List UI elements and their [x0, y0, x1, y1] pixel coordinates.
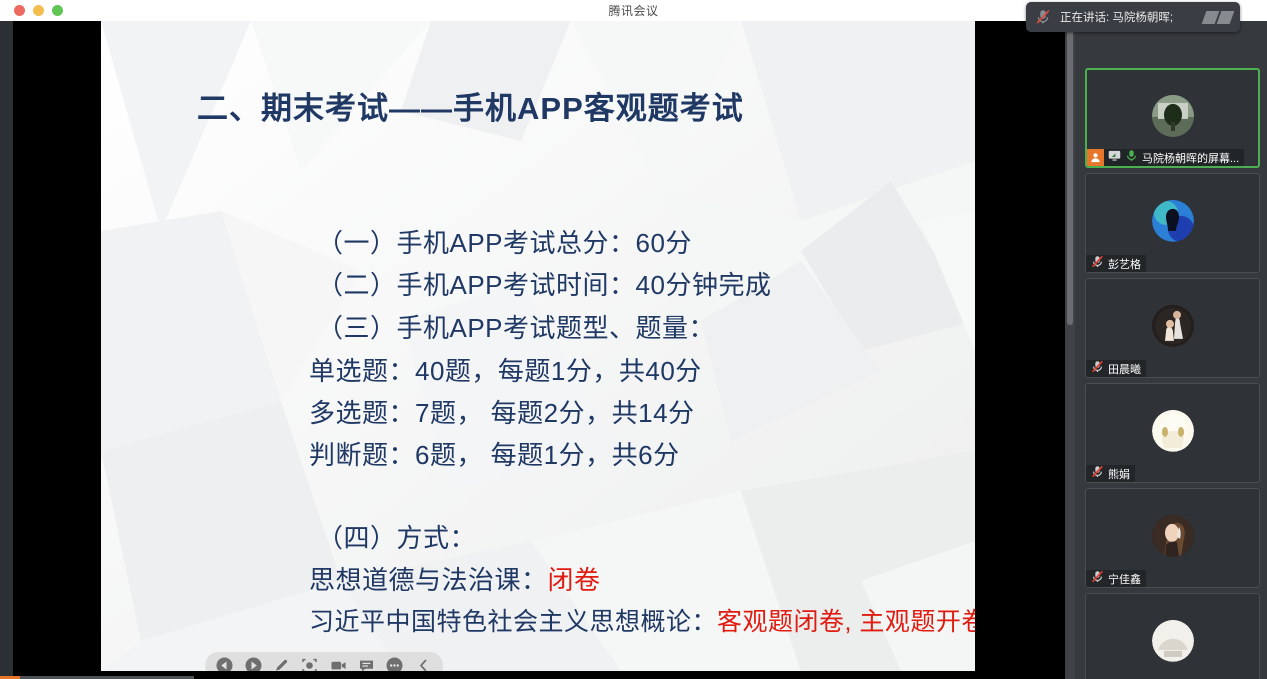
mic-muted-icon — [1091, 465, 1104, 483]
woman-portrait-avatar — [1152, 515, 1194, 557]
participant-tile[interactable]: 田晨曦 — [1085, 278, 1260, 378]
slide-line: （四）方式： — [317, 518, 476, 555]
mic-muted-icon — [1091, 360, 1104, 378]
participant-label: 田晨曦 — [1086, 360, 1146, 377]
shared-screen-stage: 二、期末考试——手机APP客观题考试 （一）手机APP考试总分：60分（二）手机… — [0, 21, 1075, 679]
participant-name: 田晨曦 — [1108, 361, 1141, 377]
slide-line-highlight: 客观题闭卷, 主观题开卷 — [717, 608, 975, 636]
vertical-scrollbar[interactable] — [1065, 21, 1075, 679]
scrollbar-thumb[interactable] — [1067, 25, 1073, 325]
previous-slide-button[interactable] — [213, 654, 236, 671]
presentation-slide: 二、期末考试——手机APP客观题考试 （一）手机APP考试总分：60分（二）手机… — [101, 21, 975, 671]
slide-line: 单选题：40题，每题1分，共40分 — [309, 351, 702, 388]
participant-name: 宁佳鑫 — [1108, 571, 1141, 587]
slide-line: （一）手机APP考试总分：60分 — [317, 223, 692, 260]
participants-list[interactable]: 马院杨朝晖的屏幕...彭艺格田晨曦熊娟宁佳鑫 — [1075, 21, 1267, 679]
participant-label: 熊娟 — [1086, 465, 1135, 482]
participant-label: 宁佳鑫 — [1086, 570, 1146, 587]
participant-label: 马院杨朝晖的屏幕... — [1087, 149, 1244, 166]
participant-tile[interactable]: 熊娟 — [1085, 383, 1260, 483]
couple-photo-avatar — [1152, 305, 1194, 347]
partial-avatar — [1152, 620, 1194, 662]
slide-line: （二）手机APP考试时间：40分钟完成 — [317, 265, 771, 302]
audio-wave-icon — [1204, 11, 1232, 24]
annotation-toolbar[interactable] — [205, 652, 443, 671]
slide-line-text: （一）手机APP考试总分：60分 — [317, 228, 692, 258]
slide-line-text: 思想道德与法治课： — [309, 565, 548, 595]
stage-left-edge — [0, 21, 13, 679]
slide-line: 思想道德与法治课：闭卷 — [309, 560, 601, 597]
plant-photo-avatar — [1152, 95, 1194, 137]
participant-tile[interactable] — [1085, 593, 1260, 679]
collapse-toolbar-button[interactable] — [412, 654, 435, 671]
chat-button[interactable] — [355, 654, 378, 671]
more-button[interactable] — [383, 654, 406, 671]
annotate-pen-button[interactable] — [270, 654, 293, 671]
video-camera-button[interactable] — [327, 654, 350, 671]
participants-rail: 马院杨朝晖的屏幕...彭艺格田晨曦熊娟宁佳鑫 — [1075, 21, 1267, 679]
galaxy-silhouette-avatar — [1152, 200, 1194, 242]
speaking-label: 正在讲话: 马院杨朝晖; — [1060, 9, 1196, 25]
slide-line-text: （三）手机APP考试题型、题量： — [317, 313, 715, 343]
participant-name: 马院杨朝晖的屏幕... — [1142, 150, 1239, 166]
participant-label: 彭艺格 — [1086, 255, 1146, 272]
slide-line-text: （二）手机APP考试时间：40分钟完成 — [317, 270, 771, 300]
slide-line: （三）手机APP考试题型、题量： — [317, 308, 715, 345]
tencent-meeting-window: 腾讯会议 正在讲话: 马院杨朝晖; — [0, 0, 1267, 679]
mic-on-icon — [1125, 149, 1138, 167]
mic-muted-icon — [1091, 570, 1104, 588]
next-slide-button[interactable] — [241, 654, 264, 671]
slide-line: 多选题：7题， 每题2分，共14分 — [309, 393, 695, 430]
bright-portrait-avatar — [1152, 410, 1194, 452]
speaking-indicator[interactable]: 正在讲话: 马院杨朝晖; — [1026, 2, 1240, 32]
host-person-icon — [1087, 149, 1104, 166]
slide-line-text: （四）方式： — [317, 523, 476, 553]
mic-muted-icon — [1034, 8, 1052, 26]
slide-line: 习近平中国特色社会主义思想概论：客观题闭卷, 主观题开卷 — [309, 602, 975, 638]
slide-line: 判断题：6题， 每题1分，共6分 — [309, 435, 680, 472]
slide-line-text: 判断题：6题， 每题1分，共6分 — [309, 440, 680, 470]
participant-tile[interactable]: 马院杨朝晖的屏幕... — [1085, 68, 1260, 168]
participant-tile[interactable]: 宁佳鑫 — [1085, 488, 1260, 588]
slide-line-highlight: 闭卷 — [548, 565, 601, 595]
slide-line-text: 多选题：7题， 每题2分，共14分 — [309, 398, 695, 428]
slide-line-text: 单选题：40题，每题1分，共40分 — [309, 356, 702, 386]
slide-line-text: 习近平中国特色社会主义思想概论： — [309, 608, 717, 636]
participant-name: 熊娟 — [1108, 466, 1130, 482]
slide-title: 二、期末考试——手机APP客观题考试 — [197, 83, 744, 128]
mic-muted-icon — [1091, 255, 1104, 273]
participant-name: 彭艺格 — [1108, 256, 1141, 272]
screen-share-icon — [1108, 149, 1121, 167]
spotlight-button[interactable] — [298, 654, 321, 671]
participant-tile[interactable]: 彭艺格 — [1085, 173, 1260, 273]
